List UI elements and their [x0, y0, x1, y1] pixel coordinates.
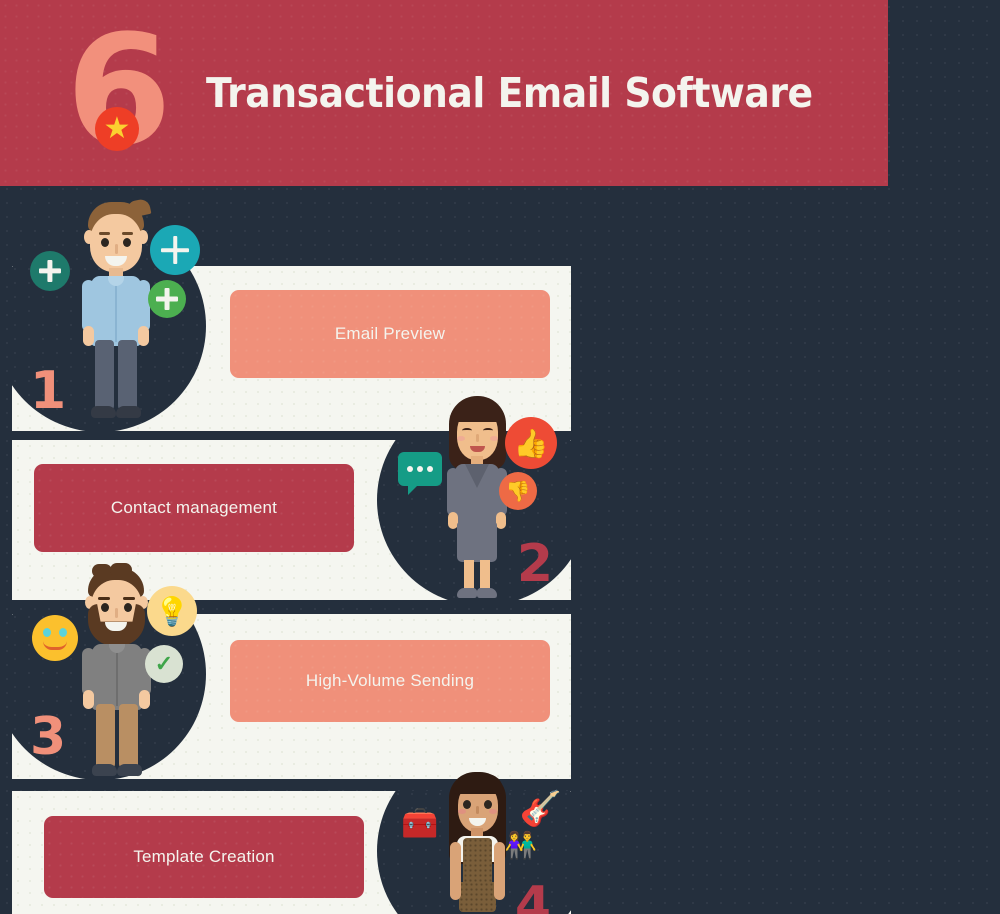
infographic-canvas: 6 ★ Transactional Email Software Email P…: [0, 0, 1000, 914]
lightbulb-icon: 💡: [147, 586, 197, 636]
step-number-1: 1: [30, 365, 66, 417]
step-label-text-3: High-Volume Sending: [306, 671, 474, 691]
header-banner: 6 ★ Transactional Email Software: [0, 0, 888, 186]
plus-icon-teal-dark: [30, 251, 70, 291]
thumbs-up-icon: 👍: [505, 417, 557, 469]
character-young-man-blue-shirt: [68, 200, 164, 422]
thumbs-down-icon: 👎: [499, 472, 537, 510]
header-number-block: 6 ★: [66, 23, 186, 163]
step-label-text-1: Email Preview: [335, 324, 445, 344]
chat-bubble-icon: [398, 452, 442, 486]
step-label-pill-1[interactable]: Email Preview: [230, 290, 550, 378]
step-label-text-4: Template Creation: [133, 847, 274, 867]
plus-icon-green: [148, 280, 186, 318]
check-mark-icon: ✓: [145, 645, 183, 683]
step-label-pill-2[interactable]: Contact management: [34, 464, 354, 552]
step-number-2: 2: [517, 538, 553, 590]
toolbox-icon: 🧰: [397, 800, 443, 846]
step-label-text-2: Contact management: [111, 498, 277, 518]
smiley-face-icon: [32, 615, 78, 661]
people-icon: 👫: [500, 824, 542, 866]
step-label-pill-3[interactable]: High-Volume Sending: [230, 640, 550, 722]
star-glyph: ★: [104, 114, 131, 144]
step-label-pill-4[interactable]: Template Creation: [44, 816, 364, 898]
plus-icon-cyan: [150, 225, 200, 275]
step-number-3: 3: [30, 711, 66, 763]
star-icon: ★: [95, 107, 139, 151]
page-title: Transactional Email Software: [206, 69, 813, 117]
step-number-4: 4: [515, 880, 551, 914]
